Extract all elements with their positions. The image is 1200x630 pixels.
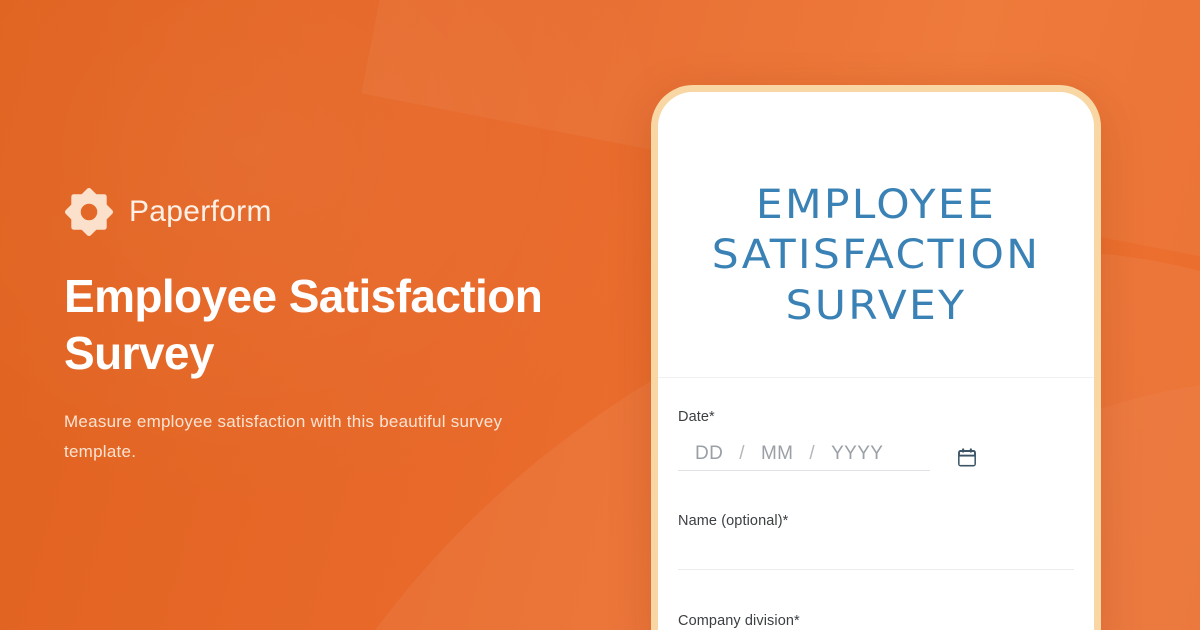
form-field-name: Name (optional)* — [678, 512, 1074, 570]
form-preview-card: EMPLOYEE SATISFACTION SURVEY Date* DD / … — [651, 85, 1101, 630]
name-input[interactable] — [678, 569, 1074, 570]
field-label-company-division: Company division* — [678, 612, 1074, 630]
date-separator-2: / — [795, 443, 829, 465]
form-divider — [658, 377, 1094, 378]
form-heading: EMPLOYEE SATISFACTION SURVEY — [651, 92, 1101, 331]
date-input-row[interactable]: DD / MM / YYYY — [678, 443, 1074, 471]
field-label-date: Date* — [678, 408, 1074, 427]
field-label-name: Name (optional)* — [678, 512, 1074, 531]
date-input[interactable]: DD / MM / YYYY — [678, 443, 930, 471]
form-field-company-division: Company division* — [678, 612, 1074, 630]
hero-panel: Paperform Employee Satisfaction Survey M… — [64, 186, 624, 467]
date-year-segment[interactable]: YYYY — [829, 443, 885, 465]
page-title: Employee Satisfaction Survey — [64, 268, 604, 381]
date-month-segment[interactable]: MM — [759, 443, 795, 465]
form-field-date: Date* DD / MM / YYYY — [678, 408, 1074, 471]
paperform-star-logo-icon — [64, 187, 114, 237]
brand-lockup: Paperform — [64, 186, 624, 238]
calendar-icon[interactable] — [958, 448, 976, 467]
brand-wordmark: Paperform — [129, 197, 272, 227]
date-separator-1: / — [725, 443, 759, 465]
page-subtitle: Measure employee satisfaction with this … — [64, 407, 569, 467]
form-card-body: EMPLOYEE SATISFACTION SURVEY Date* DD / … — [658, 92, 1094, 630]
date-day-segment[interactable]: DD — [693, 443, 725, 465]
